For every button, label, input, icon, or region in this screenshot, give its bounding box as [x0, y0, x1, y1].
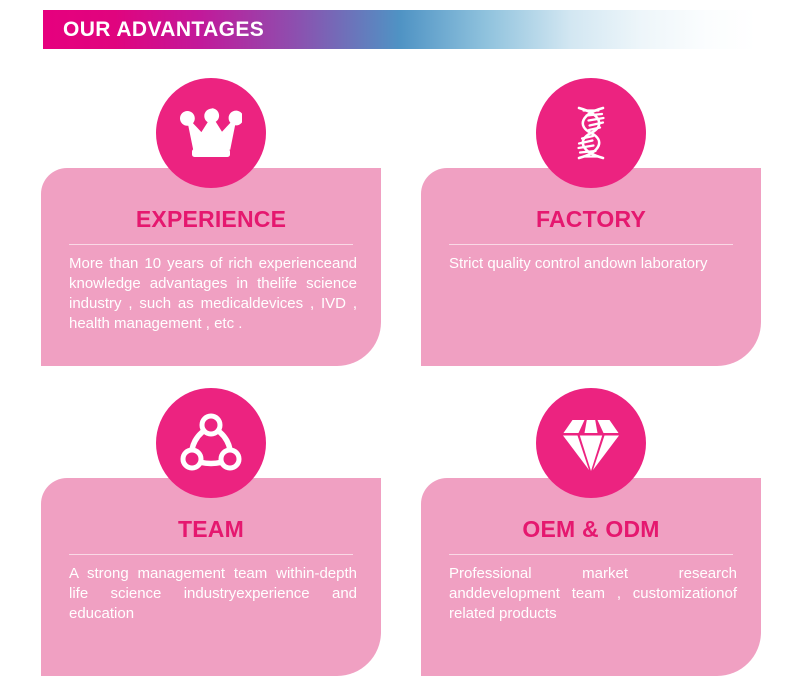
page-title: OUR ADVANTAGES	[43, 18, 264, 42]
team-network-icon	[156, 388, 266, 498]
card-title: OEM & ODM	[421, 516, 761, 543]
diamond-icon	[536, 388, 646, 498]
advantage-card-factory[interactable]: FACTORY Strict quality control andown la…	[421, 78, 761, 378]
section-header-banner: OUR ADVANTAGES	[43, 10, 757, 49]
advantages-grid: EXPERIENCE More than 10 years of rich ex…	[0, 78, 800, 698]
advantage-card-experience[interactable]: EXPERIENCE More than 10 years of rich ex…	[41, 78, 381, 378]
advantage-card-oem-odm[interactable]: OEM & ODM Professional market research a…	[421, 388, 761, 688]
card-body-text: More than 10 years of rich experienceand…	[69, 254, 357, 334]
card-body-text: A strong management team within-depth li…	[69, 564, 357, 624]
card-title: EXPERIENCE	[41, 206, 381, 233]
card-divider	[449, 244, 733, 245]
card-body-text: Strict quality control andown laboratory	[449, 254, 737, 274]
card-divider	[449, 554, 733, 555]
card-divider	[69, 244, 353, 245]
advantages-row-1: EXPERIENCE More than 10 years of rich ex…	[0, 78, 800, 388]
card-title: TEAM	[41, 516, 381, 543]
card-body-text: Professional market research anddevelopm…	[449, 564, 737, 624]
crown-icon	[156, 78, 266, 188]
advantage-card-team[interactable]: TEAM A strong management team within-dep…	[41, 388, 381, 688]
card-divider	[69, 554, 353, 555]
advantages-row-2: TEAM A strong management team within-dep…	[0, 388, 800, 698]
dna-icon	[536, 78, 646, 188]
card-title: FACTORY	[421, 206, 761, 233]
